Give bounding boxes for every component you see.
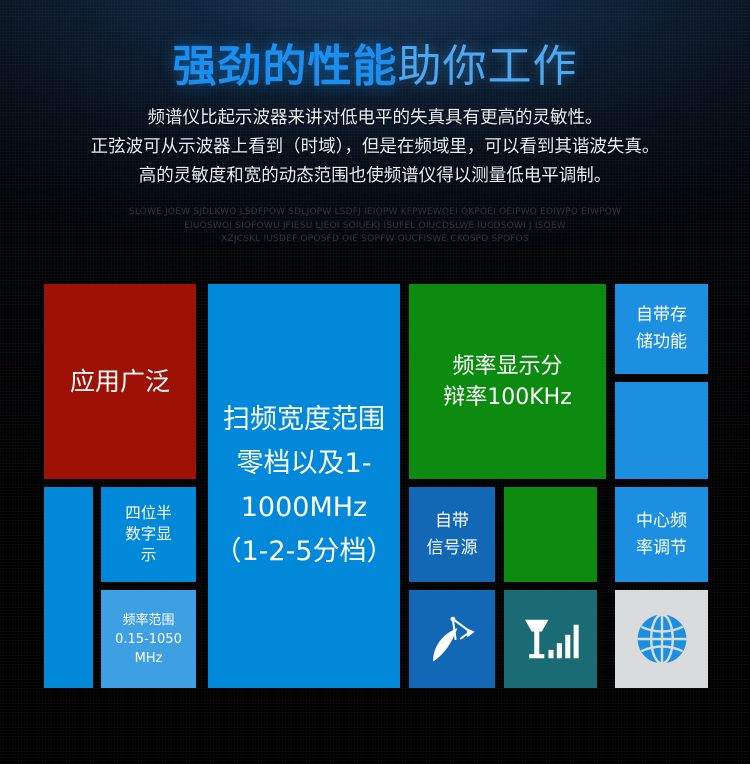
satellite-dish-icon bbox=[423, 610, 481, 668]
tile-digits-display[interactable]: 四位半 数字显 示 bbox=[101, 487, 196, 582]
page-title-strong: 强劲的性能 bbox=[173, 41, 398, 92]
tile-blank-blue-right[interactable] bbox=[615, 382, 708, 479]
tile-sweep-range[interactable]: 扫频宽度范围 零档以及1- 1000MHz （1-2-5分档） bbox=[208, 284, 400, 688]
tile-storage-function[interactable]: 自带存 储功能 bbox=[615, 284, 708, 374]
feature-tile-board: 应用广泛 四位半 数字显 示 频率范围 0.15-1050 MHz bbox=[44, 284, 708, 688]
promo-banner: 强劲的性能助你工作 频谱仪比起示波器来讲对低电平的失真具有更高的灵敏性。 正弦波… bbox=[0, 0, 750, 764]
tile-signal-source[interactable]: 自带 信号源 bbox=[409, 487, 495, 582]
tile-signal-source-text: 自带 信号源 bbox=[409, 508, 495, 562]
intro-line-3: 高的灵敏度和宽的动态范围也使频谱仪得以测量低电平调制。 bbox=[0, 162, 750, 191]
tile-accent-strip-left[interactable] bbox=[44, 487, 93, 688]
tile-sweep-range-text: 扫频宽度范围 零档以及1- 1000MHz （1-2-5分档） bbox=[208, 398, 400, 574]
tile-frequency-range-text: 频率范围 0.15-1050 MHz bbox=[101, 611, 196, 668]
tile-center-frequency[interactable]: 中心频 率调节 bbox=[615, 487, 708, 582]
intro-paragraph: 频谱仪比起示波器来讲对低电平的失真具有更高的灵敏性。 正弦波可从示波器上看到（时… bbox=[0, 104, 750, 191]
tile-frequency-range[interactable]: 频率范围 0.15-1050 MHz bbox=[101, 590, 196, 688]
tile-satellite[interactable] bbox=[409, 590, 495, 688]
tile-center-frequency-text: 中心频 率调节 bbox=[615, 508, 708, 562]
tile-resolution[interactable]: 频率显示分 辩率100KHz bbox=[409, 284, 606, 479]
page-title-light: 助你工作 bbox=[398, 41, 578, 92]
globe-icon bbox=[632, 609, 692, 669]
tile-wide-application-text: 应用广泛 bbox=[44, 361, 196, 402]
tile-blank-green[interactable] bbox=[504, 487, 597, 582]
tile-globe[interactable] bbox=[615, 590, 708, 688]
tile-wide-application[interactable]: 应用广泛 bbox=[44, 284, 196, 479]
page-title: 强劲的性能助你工作 bbox=[0, 30, 750, 94]
intro-line-1: 频谱仪比起示波器来讲对低电平的失真具有更高的灵敏性。 bbox=[0, 104, 750, 133]
tile-resolution-text: 频率显示分 辩率100KHz bbox=[409, 351, 606, 413]
tile-digits-display-text: 四位半 数字显 示 bbox=[101, 503, 196, 566]
signal-tower-icon bbox=[520, 613, 582, 665]
placeholder-line-3: XZJCSKL IUSDEF OPOSFD OIE SOPFW OUCFISWE… bbox=[0, 233, 750, 247]
placeholder-line-2: EIUOSWOI SIOFOWU JFIESU LJEOI SOIUEKJ IS… bbox=[0, 220, 750, 234]
intro-line-2: 正弦波可从示波器上看到（时域），但是在频域里，可以看到其谐波失真。 bbox=[0, 133, 750, 162]
tile-storage-function-text: 自带存 储功能 bbox=[615, 302, 708, 356]
tile-signal-strength[interactable] bbox=[504, 590, 597, 688]
placeholder-line-1: SLOWE JOEW SJDLKWO LSDFPOW SDLJOPW LSDFJ… bbox=[0, 206, 750, 220]
placeholder-text-block: SLOWE JOEW SJDLKWO LSDFPOW SDLJOPW LSDFJ… bbox=[0, 206, 750, 247]
